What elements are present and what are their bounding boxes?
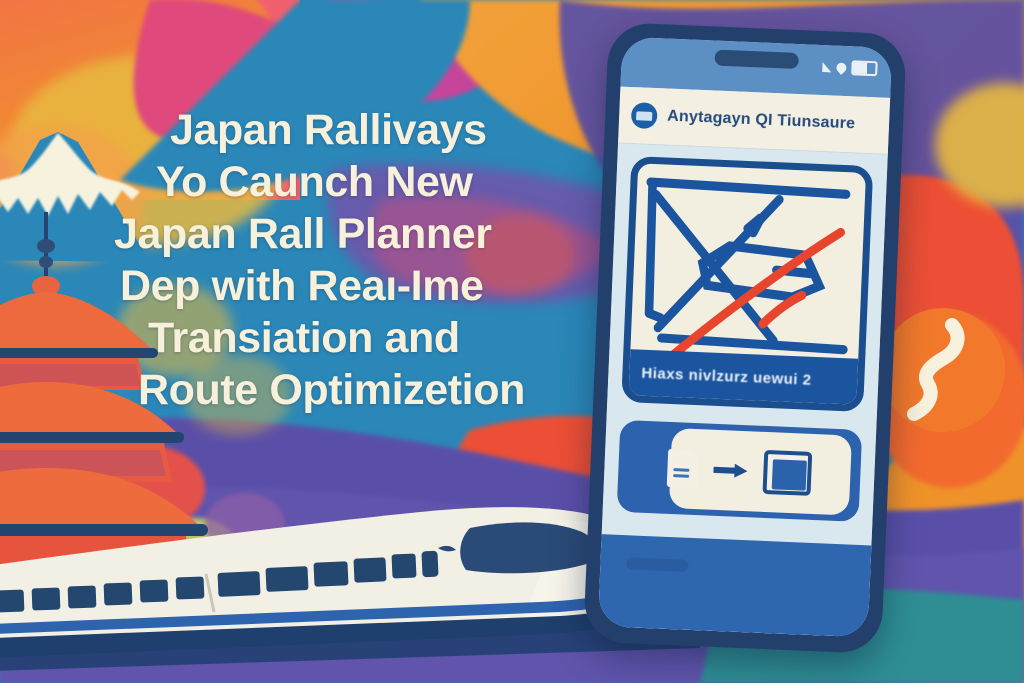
screen-icon (762, 450, 812, 496)
app-logo-icon (631, 102, 658, 129)
arrow-right-icon (713, 463, 748, 478)
app-title: Anytagayn QI Tiunsaure (667, 108, 856, 134)
phone-screen: Anytagayn QI Tiunsaure (598, 37, 892, 638)
translation-icon-row (667, 446, 813, 496)
route-map-card[interactable]: Hiaxs nivlzurz uewui 2 (621, 156, 873, 412)
status-icons (822, 59, 878, 76)
pagoda-illustration (0, 212, 208, 580)
notch (714, 49, 799, 69)
document-icon (667, 449, 699, 488)
phone-body: Anytagayn QI Tiunsaure (583, 22, 907, 654)
wifi-icon (834, 60, 848, 74)
news-banner-image: Japan Rallivays Yo Caunch New Japan Rall… (0, 0, 1024, 683)
home-indicator[interactable] (626, 557, 688, 572)
map-banner: Hiaxs nivlzurz uewui 2 (629, 349, 859, 405)
translation-card[interactable] (617, 420, 863, 522)
signal-bars-icon (822, 62, 831, 72)
smartphone-mockup: Anytagayn QI Tiunsaure (583, 22, 907, 654)
battery-icon (851, 60, 878, 76)
orange-circle-squiggle-motif (881, 308, 1005, 432)
phone-footer (598, 534, 872, 637)
mount-fuji-illustration (0, 132, 150, 262)
map-banner-text: Hiaxs nivlzurz uewui 2 (641, 364, 812, 388)
